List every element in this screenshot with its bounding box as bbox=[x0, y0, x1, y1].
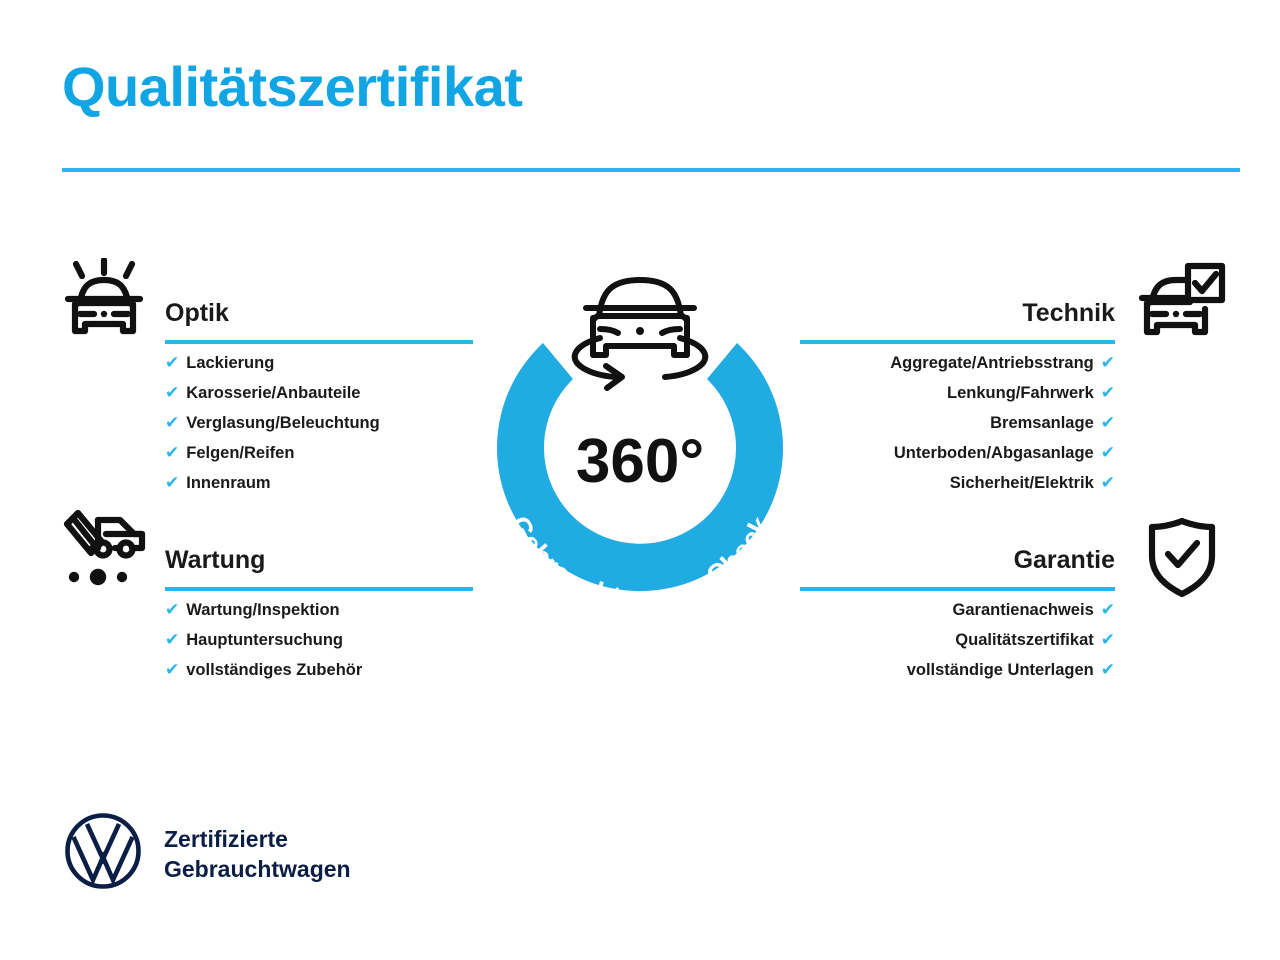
section-wartung: Wartung ✔ Wartung/Inspektion ✔ Hauptunte… bbox=[165, 543, 473, 685]
list-item: Lenkung/Fahrwerk ✔ bbox=[800, 378, 1115, 408]
list-item: ✔ Lackierung bbox=[165, 348, 473, 378]
check-icon: ✔ bbox=[165, 625, 179, 655]
check-icon: ✔ bbox=[1101, 438, 1115, 468]
shiny-car-front-icon bbox=[58, 258, 150, 355]
list-item: Qualitätszertifikat ✔ bbox=[800, 625, 1115, 655]
section-technik-list: Aggregate/Antriebsstrang ✔ Lenkung/Fahrw… bbox=[800, 348, 1115, 498]
section-garantie-divider bbox=[800, 587, 1115, 591]
list-item-label: Unterboden/Abgasanlage bbox=[894, 438, 1094, 468]
gebrauchtwagen-check-badge: 360° Gebrauchtwagen-Check bbox=[455, 250, 825, 625]
section-garantie: Garantie Garantienachweis ✔ Qualitätszer… bbox=[800, 543, 1115, 685]
list-item-label: Felgen/Reifen bbox=[186, 438, 294, 468]
list-item: Unterboden/Abgasanlage ✔ bbox=[800, 438, 1115, 468]
list-item: ✔ Felgen/Reifen bbox=[165, 438, 473, 468]
list-item-label: Sicherheit/Elektrik bbox=[950, 468, 1094, 498]
list-item: Garantienachweis ✔ bbox=[800, 595, 1115, 625]
footer-line-1: Zertifizierte bbox=[164, 826, 288, 852]
list-item: ✔ Innenraum bbox=[165, 468, 473, 498]
page-title: Qualitätszertifikat bbox=[62, 58, 522, 117]
volkswagen-logo bbox=[64, 812, 142, 895]
list-item-label: Bremsanlage bbox=[990, 408, 1094, 438]
list-item: Bremsanlage ✔ bbox=[800, 408, 1115, 438]
section-optik-divider bbox=[165, 340, 473, 344]
check-icon: ✔ bbox=[165, 655, 179, 685]
footer-brand: Zertifizierte Gebrauchtwagen bbox=[64, 812, 351, 895]
list-item: Aggregate/Antriebsstrang ✔ bbox=[800, 348, 1115, 378]
list-item: Sicherheit/Elektrik ✔ bbox=[800, 468, 1115, 498]
section-wartung-header: Wartung bbox=[165, 543, 473, 595]
car-checkbox-icon bbox=[1138, 262, 1226, 353]
list-item-label: Innenraum bbox=[186, 468, 270, 498]
check-icon: ✔ bbox=[1101, 408, 1115, 438]
list-item-label: Qualitätszertifikat bbox=[955, 625, 1093, 655]
check-icon: ✔ bbox=[1101, 348, 1115, 378]
list-item: ✔ Verglasung/Beleuchtung bbox=[165, 408, 473, 438]
list-item-label: vollständiges Zubehör bbox=[186, 655, 362, 685]
list-item-label: Garantienachweis bbox=[953, 595, 1094, 625]
section-optik-list: ✔ Lackierung ✔ Karosserie/Anbauteile ✔ V… bbox=[165, 348, 473, 498]
section-technik-title: Technik bbox=[800, 296, 1115, 330]
list-item: ✔ Hauptuntersuchung bbox=[165, 625, 473, 655]
list-item: ✔ Karosserie/Anbauteile bbox=[165, 378, 473, 408]
check-icon: ✔ bbox=[165, 468, 179, 498]
section-optik-title: Optik bbox=[165, 296, 473, 330]
list-item-label: Aggregate/Antriebsstrang bbox=[890, 348, 1094, 378]
check-icon: ✔ bbox=[1101, 655, 1115, 685]
list-item: vollständige Unterlagen ✔ bbox=[800, 655, 1115, 685]
check-icon: ✔ bbox=[165, 438, 179, 468]
badge-center-label: 360° bbox=[576, 427, 704, 496]
check-icon: ✔ bbox=[1101, 625, 1115, 655]
list-item-label: Verglasung/Beleuchtung bbox=[186, 408, 379, 438]
section-technik-divider bbox=[800, 340, 1115, 344]
check-icon: ✔ bbox=[1101, 378, 1115, 408]
list-item: ✔ vollständiges Zubehör bbox=[165, 655, 473, 685]
header-divider bbox=[62, 168, 1240, 172]
footer-line-2: Gebrauchtwagen bbox=[164, 856, 351, 882]
pencil-car-service-icon bbox=[58, 508, 150, 593]
section-garantie-title: Garantie bbox=[800, 543, 1115, 577]
check-icon: ✔ bbox=[1101, 468, 1115, 498]
section-optik-header: Optik bbox=[165, 296, 473, 348]
check-icon: ✔ bbox=[165, 408, 179, 438]
list-item-label: Wartung/Inspektion bbox=[186, 595, 339, 625]
section-technik-header: Technik bbox=[800, 296, 1115, 348]
list-item-label: Karosserie/Anbauteile bbox=[186, 378, 360, 408]
car-360-rotate-icon bbox=[575, 280, 706, 388]
check-icon: ✔ bbox=[1101, 595, 1115, 625]
check-icon: ✔ bbox=[165, 348, 179, 378]
list-item-label: Lackierung bbox=[186, 348, 274, 378]
section-technik: Technik Aggregate/Antriebsstrang ✔ Lenku… bbox=[800, 296, 1115, 498]
section-garantie-list: Garantienachweis ✔ Qualitätszertifikat ✔… bbox=[800, 595, 1115, 685]
shield-check-icon bbox=[1146, 516, 1218, 603]
section-wartung-title: Wartung bbox=[165, 543, 473, 577]
list-item: ✔ Wartung/Inspektion bbox=[165, 595, 473, 625]
list-item-label: Lenkung/Fahrwerk bbox=[947, 378, 1094, 408]
section-wartung-list: ✔ Wartung/Inspektion ✔ Hauptuntersuchung… bbox=[165, 595, 473, 685]
check-icon: ✔ bbox=[165, 378, 179, 408]
list-item-label: Hauptuntersuchung bbox=[186, 625, 343, 655]
section-wartung-divider bbox=[165, 587, 473, 591]
check-icon: ✔ bbox=[165, 595, 179, 625]
list-item-label: vollständige Unterlagen bbox=[907, 655, 1094, 685]
footer-brand-text: Zertifizierte Gebrauchtwagen bbox=[164, 824, 351, 884]
section-garantie-header: Garantie bbox=[800, 543, 1115, 595]
section-optik: Optik ✔ Lackierung ✔ Karosserie/Anbautei… bbox=[165, 296, 473, 498]
